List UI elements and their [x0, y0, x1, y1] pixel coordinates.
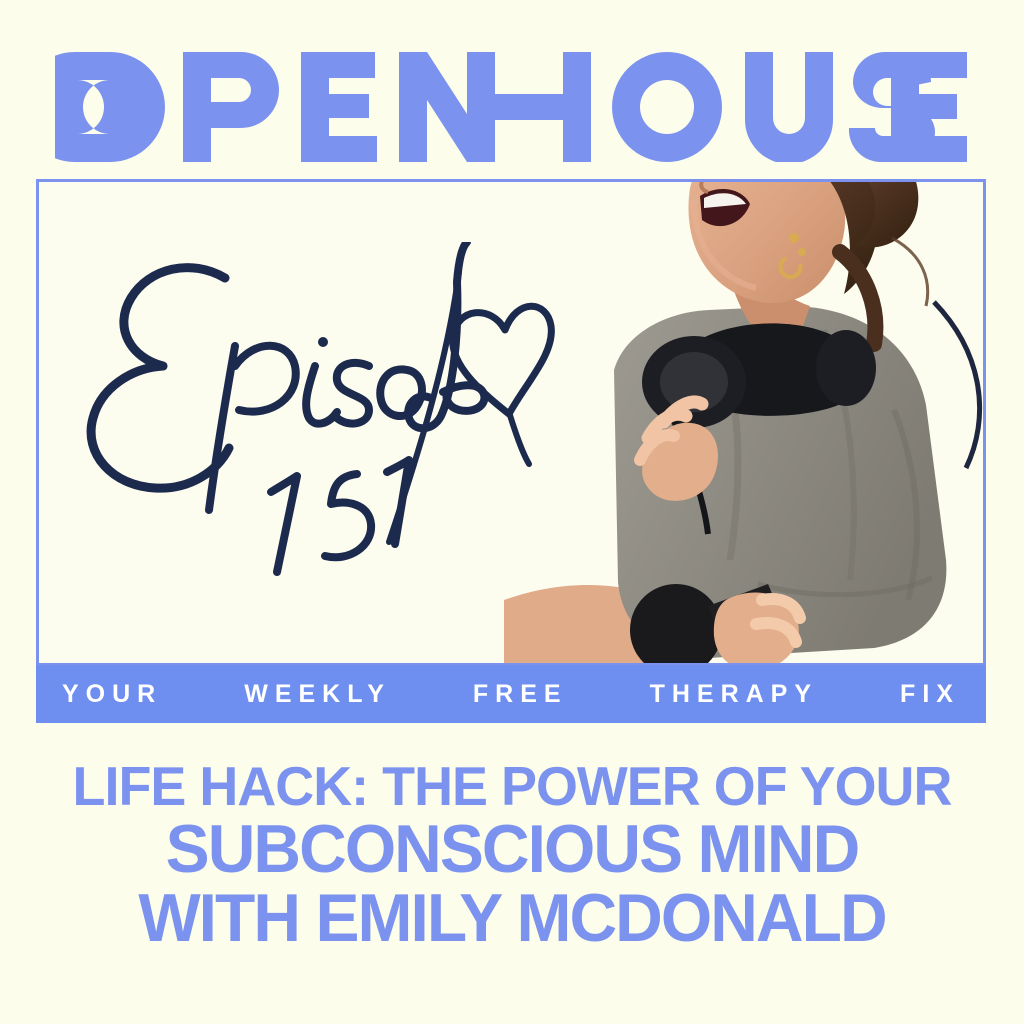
tagline-word-weekly: WEEKLY	[244, 682, 391, 707]
script-letter-i	[306, 366, 337, 424]
earring-1	[789, 233, 799, 243]
logo-letter-p	[183, 52, 279, 162]
host-photo-svg	[494, 182, 983, 663]
openhouse-logo	[55, 52, 967, 162]
script-flourish	[389, 272, 459, 542]
episode-title-line-3: WITH EMILY MCDONALD	[15, 886, 1008, 951]
logo-letter-e-bot	[891, 136, 967, 162]
hair-flyaway	[892, 238, 928, 306]
logo-letter-e	[301, 52, 377, 162]
script-digit-5	[325, 474, 371, 557]
script-letter-E	[91, 268, 229, 489]
tagline-word-therapy: THERAPY	[650, 682, 818, 707]
podcast-cover-art: YOUR WEEKLY FREE THERAPY FIX LIFE HACK: …	[0, 0, 1024, 1024]
script-digit-1a	[271, 476, 297, 572]
episode-title-line-1: LIFE HACK: THE POWER OF YOUR	[10, 760, 1014, 813]
openhouse-logo-svg	[55, 52, 967, 162]
logo-letter-h	[495, 52, 591, 162]
script-digit-1b	[387, 460, 409, 544]
script-letter-s	[337, 363, 369, 424]
script-letter-i-dot	[318, 337, 328, 347]
logo-letter-n	[399, 52, 495, 162]
episode-title-line-2: SUBCONSCIOUS MIND	[15, 817, 1008, 882]
logo-letter-u	[745, 52, 833, 162]
episode-photo	[39, 182, 983, 663]
script-letter-p	[209, 346, 296, 510]
mic-cable	[934, 302, 980, 468]
tagline-word-your: YOUR	[62, 682, 162, 707]
host-photo-illustration	[494, 182, 983, 663]
script-letter-d	[408, 242, 467, 428]
tagline-banner: YOUR WEEKLY FREE THERAPY FIX	[36, 665, 986, 723]
episode-title: LIFE HACK: THE POWER OF YOUR SUBCONSCIOU…	[0, 760, 1024, 951]
episode-photo-frame	[36, 179, 986, 666]
tagline-word-free: FREE	[473, 682, 568, 707]
logo-letter-e-top	[891, 52, 967, 78]
script-letter-o	[380, 369, 422, 416]
headphone-earcup-right	[816, 330, 876, 406]
tagline-word-fix: FIX	[900, 682, 960, 707]
earring-2	[798, 248, 806, 256]
script-letter-e	[443, 385, 484, 411]
logo-letter-o2	[612, 52, 722, 162]
logo-letter-e-mid	[891, 94, 957, 119]
logo-letter-o	[55, 52, 165, 162]
